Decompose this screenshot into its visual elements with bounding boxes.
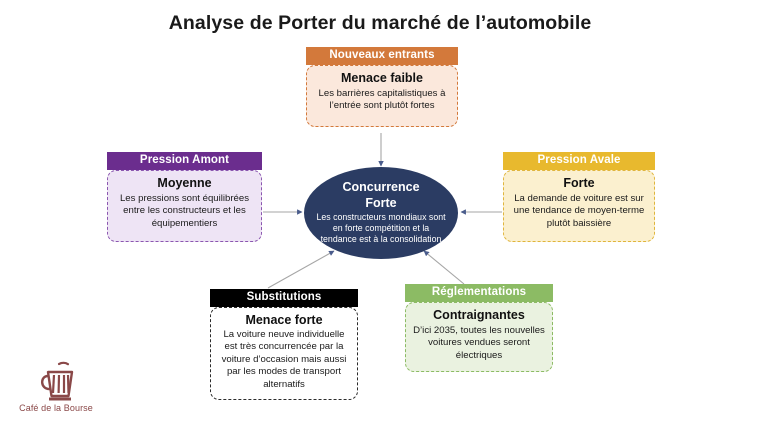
force-substitutes-header: Substitutions xyxy=(210,289,358,307)
center-node-description: Les constructeurs mondiaux sont en forte… xyxy=(314,212,448,246)
force-substitutes-body: Menace forte La voiture neuve individuel… xyxy=(210,307,358,400)
brand-logo: Café de la Bourse xyxy=(6,360,106,413)
force-new-entrants-verdict: Menace faible xyxy=(314,71,450,87)
force-supplier-power[interactable]: Pression Amont Moyenne Les pressions son… xyxy=(107,152,262,242)
force-supplier-power-verdict: Moyenne xyxy=(115,176,254,192)
center-node-title-line1: Concurrence xyxy=(342,180,419,195)
force-substitutes[interactable]: Substitutions Menace forte La voiture ne… xyxy=(210,289,358,400)
force-substitutes-verdict: Menace forte xyxy=(218,313,350,329)
center-node-competitive-rivalry[interactable]: Concurrence Forte Les constructeurs mond… xyxy=(304,167,458,259)
force-buyer-power-verdict: Forte xyxy=(511,176,647,192)
slide-canvas: Analyse de Porter du marché de l’automob… xyxy=(0,0,760,428)
coffee-cup-icon xyxy=(32,360,80,402)
center-node-title-line2: Forte xyxy=(365,196,396,211)
force-substitutes-description: La voiture neuve individuelle est très c… xyxy=(218,329,350,392)
force-buyer-power-body: Forte La demande de voiture est sur une … xyxy=(503,170,655,242)
force-buyer-power[interactable]: Pression Avale Forte La demande de voitu… xyxy=(503,152,655,242)
force-supplier-power-description: Les pressions sont équilibrées entre les… xyxy=(115,193,254,231)
force-regulations-body: Contraignantes D’ici 2035, toutes les no… xyxy=(405,302,553,372)
force-new-entrants[interactable]: Nouveaux entrants Menace faible Les barr… xyxy=(306,47,458,127)
force-buyer-power-description: La demande de voiture est sur une tendan… xyxy=(511,193,647,231)
force-regulations-header: Réglementations xyxy=(405,284,553,302)
brand-name: Café de la Bourse xyxy=(6,403,106,413)
force-supplier-power-body: Moyenne Les pressions sont équilibrées e… xyxy=(107,170,262,242)
force-regulations[interactable]: Réglementations Contraignantes D’ici 203… xyxy=(405,284,553,372)
force-supplier-power-header: Pression Amont xyxy=(107,152,262,170)
force-regulations-verdict: Contraignantes xyxy=(413,308,545,324)
force-new-entrants-description: Les barrières capitalistiques à l’entrée… xyxy=(314,88,450,113)
force-buyer-power-header: Pression Avale xyxy=(503,152,655,170)
force-new-entrants-body: Menace faible Les barrières capitalistiq… xyxy=(306,65,458,127)
force-new-entrants-header: Nouveaux entrants xyxy=(306,47,458,65)
force-regulations-description: D’ici 2035, toutes les nouvelles voiture… xyxy=(413,325,545,363)
